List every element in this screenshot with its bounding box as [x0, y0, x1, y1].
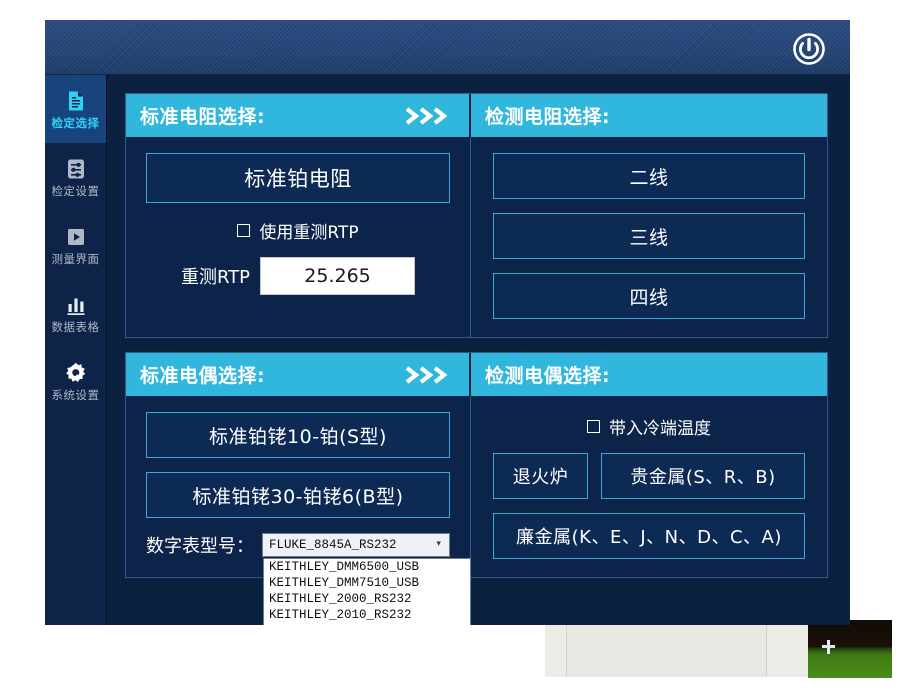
sidebar-item-label: 数据表格 [52, 322, 100, 334]
standard-resistance-header: 标准电阻选择: [126, 94, 471, 137]
standard-s-type-button[interactable]: 标准铂铑10-铂(S型) [146, 412, 450, 458]
checkbox-icon [587, 420, 600, 433]
standard-b-type-button[interactable]: 标准铂铑30-铂铑6(B型) [146, 472, 450, 518]
dmm-model-option-list[interactable]: KEITHLEY_DMM6500_USB KEITHLEY_DMM7510_US… [263, 558, 471, 625]
thermocouple-panel-body: 标准铂铑10-铂(S型) 标准铂铑30-铂铑6(B型) 数字表型号： FLUKE… [126, 396, 827, 577]
sliders-icon [64, 157, 88, 181]
desktop-panel-segment-right [766, 623, 810, 677]
dmm-option[interactable]: KEITHLEY_DMM6500_USB [264, 559, 470, 575]
dmm-model-selected-value: FLUKE_8845A_RS232 [269, 538, 397, 552]
dmm-option[interactable]: AGILENT_34401A_RS232 [264, 623, 470, 625]
screen: 检定选择 检定设置 [0, 0, 900, 700]
detect-resistance-column: 二线 三线 四线 [471, 137, 827, 337]
power-button[interactable] [790, 30, 828, 68]
document-icon [64, 89, 88, 113]
chevrons-right-icon [405, 106, 451, 126]
dmm-model-row: 数字表型号： FLUKE_8845A_RS232 ▾ KEITHLEY_DMM6… [146, 532, 450, 558]
resistance-panel-body: 标准铂电阻 使用重测RTP 重测RTP 25.265 二线 三线 [126, 137, 827, 337]
sidebar-item-label: 检定设置 [52, 186, 100, 198]
three-wire-button[interactable]: 三线 [493, 213, 805, 259]
checkbox-icon [237, 224, 250, 237]
resistance-panel-headers: 标准电阻选择: 检测电阻选择: [126, 94, 827, 137]
detect-thermocouple-title: 检测电偶选择: [485, 361, 610, 388]
retest-rtp-input[interactable]: 25.265 [260, 257, 415, 295]
sidebar-item-calibration-settings[interactable]: 检定设置 [45, 143, 106, 211]
detect-resistance-title: 检测电阻选择: [485, 102, 610, 129]
dmm-model-label: 数字表型号： [146, 532, 254, 558]
thermocouple-panel: 标准电偶选择: 检测电偶选择: [125, 352, 828, 578]
sidebar-item-measurement-view[interactable]: 测量界面 [45, 211, 106, 279]
desktop-background-panel [545, 622, 810, 677]
desktop-panel-segment-left [545, 623, 567, 677]
sidebar-item-system-settings[interactable]: 系统设置 [45, 347, 106, 415]
standard-thermocouple-column: 标准铂铑10-铂(S型) 标准铂铑30-铂铑6(B型) 数字表型号： FLUKE… [126, 396, 471, 577]
dmm-option[interactable]: KEITHLEY_DMM7510_USB [264, 575, 470, 591]
retest-rtp-field-row: 重测RTP 25.265 [146, 257, 450, 295]
sidebar-item-calibration-select[interactable]: 检定选择 [45, 75, 106, 143]
gear-icon [64, 361, 88, 385]
noble-metal-button[interactable]: 贵金属(S、R、B) [601, 453, 805, 499]
base-metal-button[interactable]: 廉金属(K、E、J、N、D、C、A) [493, 513, 805, 559]
sidebar-item-data-table[interactable]: 数据表格 [45, 279, 106, 347]
title-bar [45, 20, 850, 75]
resistance-panel: 标准电阻选择: 检测电阻选择: [125, 93, 828, 338]
dmm-option[interactable]: KEITHLEY_2010_RS232 [264, 607, 470, 623]
standard-thermocouple-title: 标准电偶选择: [140, 361, 265, 388]
cold-junction-checkbox[interactable]: 带入冷端温度 [493, 414, 805, 439]
sidebar: 检定选择 检定设置 [45, 75, 107, 625]
sidebar-item-label: 系统设置 [52, 390, 100, 402]
play-icon [64, 225, 88, 249]
desktop-wallpaper-fragment [808, 620, 892, 678]
standard-resistance-column: 标准铂电阻 使用重测RTP 重测RTP 25.265 [126, 137, 471, 337]
main-content: 标准电阻选择: 检测电阻选择: [107, 75, 850, 625]
sidebar-item-label: 测量界面 [52, 254, 100, 266]
desktop-shortcut-icon [822, 640, 835, 654]
thermocouple-panel-headers: 标准电偶选择: 检测电偶选择: [126, 353, 827, 396]
thermocouple-button-pair: 退火炉 贵金属(S、R、B) [493, 453, 805, 499]
chevrons-right-icon [405, 365, 451, 385]
bar-chart-icon [64, 293, 88, 317]
detect-thermocouple-header: 检测电偶选择: [471, 353, 827, 396]
sidebar-item-label: 检定选择 [52, 118, 100, 130]
dmm-model-select[interactable]: FLUKE_8845A_RS232 ▾ KEITHLEY_DMM6500_USB… [262, 533, 450, 557]
application-window: 检定选择 检定设置 [45, 20, 850, 625]
dmm-option[interactable]: KEITHLEY_2000_RS232 [264, 591, 470, 607]
four-wire-button[interactable]: 四线 [493, 273, 805, 319]
detect-resistance-header: 检测电阻选择: [471, 94, 827, 137]
detect-thermocouple-column: 带入冷端温度 退火炉 贵金属(S、R、B) 廉金属(K、E、J、N、D、C、A) [471, 396, 827, 577]
retest-rtp-label: 重测RTP [181, 263, 250, 289]
standard-resistance-title: 标准电阻选择: [140, 102, 265, 129]
standard-thermocouple-header: 标准电偶选择: [126, 353, 471, 396]
standard-platinum-resistance-button[interactable]: 标准铂电阻 [146, 153, 450, 203]
cold-junction-label: 带入冷端温度 [609, 414, 711, 439]
two-wire-button[interactable]: 二线 [493, 153, 805, 199]
chevron-down-icon: ▾ [435, 540, 442, 551]
annealing-furnace-button[interactable]: 退火炉 [493, 453, 588, 499]
use-retest-rtp-label: 使用重测RTP [259, 218, 358, 243]
use-retest-rtp-checkbox[interactable]: 使用重测RTP [146, 218, 450, 243]
